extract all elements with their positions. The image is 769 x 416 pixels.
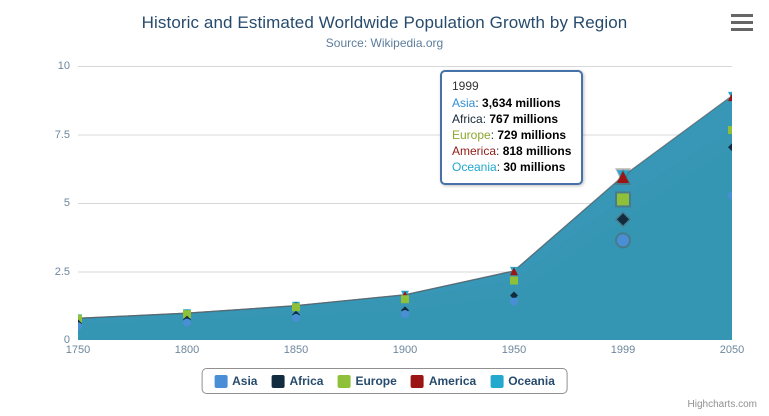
data-point-marker[interactable]	[615, 191, 631, 207]
x-axis-tick-label: 1750	[66, 344, 90, 356]
legend-swatch-icon	[214, 375, 227, 388]
y-axis-tick-label: 5	[20, 197, 70, 209]
chart-tooltip: 1999 Asia: 3,634 millionsAfrica: 767 mil…	[440, 70, 583, 185]
x-axis-tick-label: 1850	[284, 344, 308, 356]
tooltip-series-name: Africa	[452, 112, 483, 126]
chart-subtitle: Source: Wikipedia.org	[0, 36, 769, 50]
legend-item-label: Asia	[232, 374, 257, 388]
legend-item-africa[interactable]: Africa	[271, 374, 323, 388]
legend-swatch-icon	[337, 375, 350, 388]
x-axis-ticks: 1750180018501900195019992050	[78, 344, 732, 362]
data-point-marker[interactable]	[615, 232, 631, 248]
tooltip-separator: :	[475, 96, 482, 110]
tooltip-header: 1999	[452, 79, 571, 93]
menu-bar-3	[731, 28, 753, 31]
tooltip-series-name: Oceania	[452, 160, 497, 174]
y-axis-tick-label: 0	[20, 334, 70, 346]
legend-item-oceania[interactable]: Oceania	[490, 374, 555, 388]
tooltip-row: Europe: 729 millions	[452, 127, 571, 143]
tooltip-series-value: 767 millions	[489, 112, 558, 126]
tooltip-series-name: Europe	[452, 128, 491, 142]
y-axis-ticks: 02.557.510	[12, 66, 70, 340]
tooltip-separator: :	[496, 144, 503, 158]
legend-item-asia[interactable]: Asia	[214, 374, 257, 388]
plot-area	[78, 66, 732, 340]
tooltip-row: Asia: 3,634 millions	[452, 95, 571, 111]
tooltip-row: Oceania: 30 millions	[452, 159, 571, 175]
y-axis-tick-label: 7.5	[20, 129, 70, 141]
menu-bar-1	[731, 14, 753, 17]
data-point-marker[interactable]	[292, 303, 300, 311]
data-point-marker[interactable]	[401, 310, 409, 318]
legend-item-label: Europe	[355, 374, 396, 388]
data-point-marker[interactable]	[728, 126, 732, 134]
tooltip-series-value: 3,634 millions	[482, 96, 561, 110]
tooltip-series-name: America	[452, 144, 496, 158]
legend-swatch-icon	[271, 375, 284, 388]
chart-legend: AsiaAfricaEuropeAmericaOceania	[201, 368, 568, 394]
x-axis-tick-label: 1800	[175, 344, 199, 356]
tooltip-row: Africa: 767 millions	[452, 111, 571, 127]
menu-bar-2	[731, 21, 753, 24]
hamburger-menu-icon[interactable]	[731, 14, 755, 36]
y-axis-tick-label: 10	[20, 60, 70, 72]
x-axis-tick-label: 2050	[720, 344, 744, 356]
legend-item-label: Oceania	[508, 374, 555, 388]
tooltip-series-value: 818 millions	[503, 144, 572, 158]
tooltip-series-value: 729 millions	[497, 128, 566, 142]
legend-swatch-icon	[490, 375, 503, 388]
legend-item-label: America	[429, 374, 476, 388]
legend-item-america[interactable]: America	[411, 374, 476, 388]
data-point-marker[interactable]	[183, 319, 191, 327]
highcharts-credits[interactable]: Highcharts.com	[688, 399, 757, 410]
chart-container: Historic and Estimated Worldwide Populat…	[0, 0, 769, 416]
chart-plot-svg	[78, 66, 732, 340]
data-point-marker[interactable]	[510, 277, 518, 285]
legend-swatch-icon	[411, 375, 424, 388]
tooltip-row: America: 818 millions	[452, 143, 571, 159]
tooltip-rows: Asia: 3,634 millionsAfrica: 767 millions…	[452, 95, 571, 175]
x-axis-tick-label: 1900	[393, 344, 417, 356]
legend-item-europe[interactable]: Europe	[337, 374, 396, 388]
legend-item-label: Africa	[289, 374, 323, 388]
tooltip-series-name: Asia	[452, 96, 475, 110]
tooltip-series-value: 30 millions	[503, 160, 565, 174]
data-point-marker[interactable]	[292, 314, 300, 322]
area-series-oceania	[78, 96, 732, 340]
y-axis-tick-label: 2.5	[20, 266, 70, 278]
x-axis-tick-label: 1999	[611, 344, 635, 356]
x-axis-tick-label: 1950	[502, 344, 526, 356]
data-point-marker[interactable]	[510, 298, 518, 306]
data-point-marker[interactable]	[401, 295, 409, 303]
chart-title: Historic and Estimated Worldwide Populat…	[0, 13, 769, 33]
